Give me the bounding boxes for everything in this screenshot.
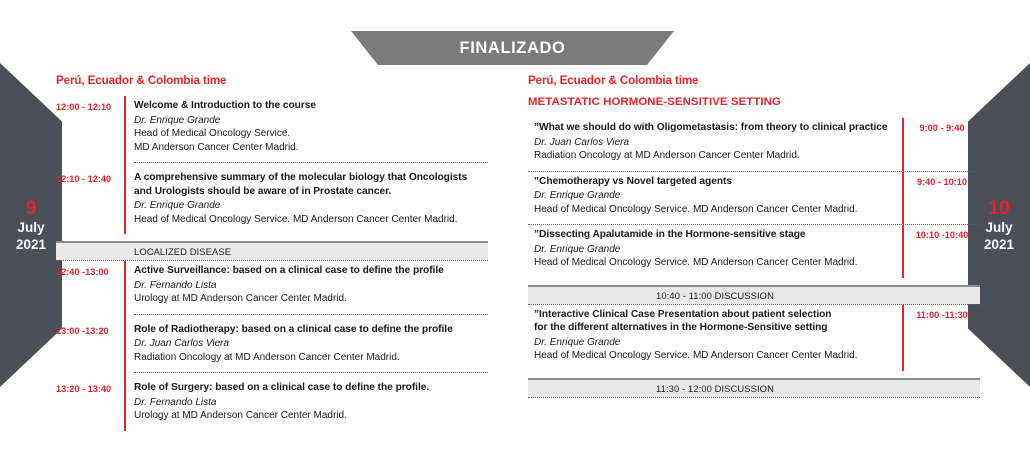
session-row[interactable]: ”Interactive Clinical Case Presentation … (528, 305, 980, 371)
session-row[interactable]: 12:00 - 12:10 Welcome & Introduction to … (56, 96, 488, 162)
session-title: Role of Radiotherapy: based on a clinica… (134, 323, 488, 337)
timezone-header: Perú, Ecuador & Colombia time (528, 74, 980, 87)
discussion-band-label: 11:30 - 12:00 DISCUSSION (656, 383, 774, 394)
session-speaker: Dr. Fernando Lista (134, 396, 488, 410)
session-affiliation: Urology at MD Anderson Cancer Center Mad… (134, 409, 488, 423)
session-content: ”Interactive Clinical Case Presentation … (528, 305, 902, 371)
session-speaker: Dr. Enrique Grande (534, 189, 892, 203)
session-affiliation: Head of Medical Oncology Service. MD And… (534, 256, 892, 270)
session-row[interactable]: 12:40 -13:00 Active Surveillance: based … (56, 261, 488, 314)
session-title: ”What we should do with Oligometastasis:… (534, 121, 892, 135)
discussion-band-label: 10:40 - 11:00 DISCUSSION (656, 290, 774, 301)
discussion-band: 10:40 - 11:00 DISCUSSION (528, 285, 980, 304)
session-row[interactable]: ”Dissecting Apalutamide in the Hormone-s… (528, 225, 980, 278)
session-affiliation: Radiation Oncology at MD Anderson Cancer… (534, 149, 892, 163)
session-time: 9:00 - 9:40 (904, 118, 980, 171)
session-content: Active Surveillance: based on a clinical… (126, 261, 488, 314)
agenda-column-day1: Perú, Ecuador & Colombia time 12:00 - 12… (56, 74, 488, 431)
date-month-label: July (0, 220, 62, 236)
session-row[interactable]: ”Chemotherapy vs Novel targeted agents D… (528, 172, 980, 225)
session-title: A comprehensive summary of the molecular… (134, 171, 488, 185)
session-content: Role of Radiotherapy: based on a clinica… (126, 320, 488, 373)
dotted-divider (134, 314, 488, 315)
session-title: ”Interactive Clinical Case Presentation … (534, 308, 892, 322)
session-title: Active Surveillance: based on a clinical… (134, 264, 488, 278)
session-speaker: Dr. Fernando Lista (134, 279, 488, 293)
agenda-column-day2: Perú, Ecuador & Colombia time METASTATIC… (528, 74, 980, 398)
session-title: Role of Surgery: based on a clinical cas… (134, 381, 488, 395)
spacer (56, 234, 488, 241)
agenda-page: 9 July 2021 10 July 2021 FINALIZADO Perú… (0, 0, 1030, 450)
session-speaker: Dr. Enrique Grande (134, 199, 488, 213)
session-content: ”What we should do with Oligometastasis:… (528, 118, 902, 171)
session-title: ”Chemotherapy vs Novel targeted agents (534, 175, 892, 189)
session-speaker: Dr. Juan Carlos Viera (134, 337, 488, 351)
section-band-label: LOCALIZED DISEASE (134, 246, 231, 257)
spacer (528, 371, 980, 378)
session-affiliation: Urology at MD Anderson Cancer Center Mad… (134, 292, 488, 306)
section-band: LOCALIZED DISEASE (56, 241, 488, 260)
dotted-divider (528, 397, 980, 398)
timezone-header: Perú, Ecuador & Colombia time (56, 74, 488, 87)
session-affiliation: Head of Medical Oncology Service. MD And… (534, 349, 892, 363)
session-affiliation: MD Anderson Cancer Center Madrid. (134, 141, 488, 155)
session-content: Welcome & Introduction to the course Dr.… (126, 96, 488, 162)
setting-header: METASTATIC HORMONE-SENSITIVE SETTING (528, 96, 980, 108)
session-content: ”Chemotherapy vs Novel targeted agents D… (528, 172, 902, 225)
session-row[interactable]: 13:20 - 13:40 Role of Surgery: based on … (56, 378, 488, 431)
session-speaker: Dr. Enrique Grande (534, 336, 892, 350)
session-time: 12:10 - 12:40 (56, 168, 124, 234)
session-affiliation: Head of Medical Oncology Service. MD And… (134, 213, 488, 227)
date-year-label: 2021 (0, 237, 62, 253)
discussion-band: 11:30 - 12:00 DISCUSSION (528, 378, 980, 397)
session-row[interactable]: ”What we should do with Oligometastasis:… (528, 118, 980, 171)
session-time: 9:40 - 10:10 (904, 172, 980, 225)
dotted-divider (134, 162, 488, 163)
status-banner: FINALIZADO (340, 31, 685, 65)
session-time: 10:10 -10:40 (904, 225, 980, 278)
session-speaker: Dr. Enrique Grande (534, 243, 892, 257)
session-time: 13:20 - 13:40 (56, 378, 124, 431)
session-title: Welcome & Introduction to the course (134, 99, 488, 113)
session-time: 11:00 -11:30 (904, 305, 980, 371)
session-speaker: Dr. Juan Carlos Viera (534, 136, 892, 150)
session-speaker: Dr. Enrique Grande (134, 114, 488, 128)
date-panel-day1-inner: 9 July 2021 (0, 197, 62, 253)
session-time: 13:00 -13:20 (56, 320, 124, 373)
date-panel-day1: 9 July 2021 (0, 0, 62, 450)
session-affiliation: Head of Medical Oncology Service. (134, 127, 488, 141)
session-title: and Urologists should be aware of in Pro… (134, 185, 488, 199)
session-title: ”Dissecting Apalutamide in the Hormone-s… (534, 228, 892, 242)
session-title: for the different alternatives in the Ho… (534, 321, 892, 335)
session-affiliation: Radiation Oncology at MD Anderson Cancer… (134, 351, 488, 365)
date-day-number: 9 (0, 197, 62, 220)
spacer (528, 278, 980, 285)
dotted-divider (134, 372, 488, 373)
session-time: 12:40 -13:00 (56, 261, 124, 314)
session-content: A comprehensive summary of the molecular… (126, 168, 488, 234)
session-row[interactable]: 12:10 - 12:40 A comprehensive summary of… (56, 168, 488, 234)
session-affiliation: Head of Medical Oncology Service. MD And… (534, 203, 892, 217)
session-content: Role of Surgery: based on a clinical cas… (126, 378, 488, 431)
session-time: 12:00 - 12:10 (56, 96, 124, 162)
session-row[interactable]: 13:00 -13:20 Role of Radiotherapy: based… (56, 320, 488, 373)
session-content: ”Dissecting Apalutamide in the Hormone-s… (528, 225, 902, 278)
status-badge: FINALIZADO (460, 39, 566, 58)
